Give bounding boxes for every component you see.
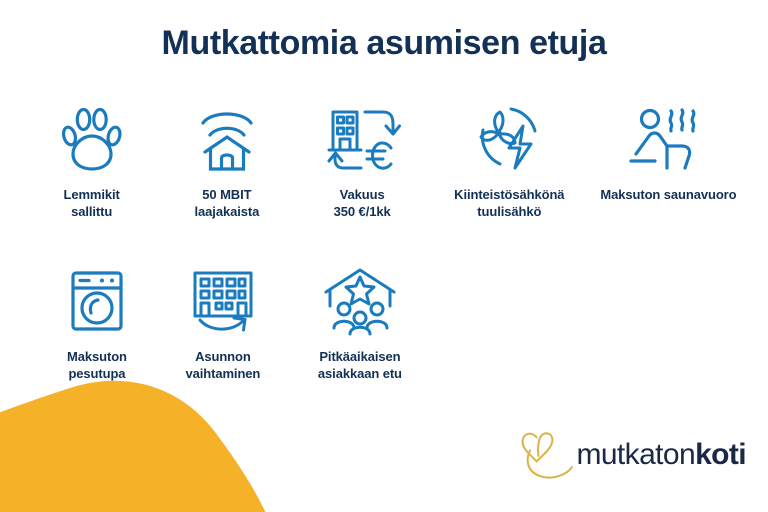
orange-blob-decoration: [0, 362, 280, 512]
benefit-item: Maksuton pesutupa: [34, 262, 160, 382]
benefit-label: 50 MBIT laajakaista: [195, 186, 260, 220]
brand-logo[interactable]: mutkatonkoti: [516, 428, 746, 482]
benefit-item: Pitkäaikaisen asiakkaan etu: [286, 262, 434, 382]
wifi-house-icon: [196, 100, 258, 178]
page-title: Mutkattomia asumisen etuja: [0, 22, 768, 64]
washing-machine-icon: [65, 262, 129, 340]
paw-print-icon: [61, 100, 123, 178]
benefit-label: Asunnon vaihtaminen: [186, 348, 261, 382]
benefits-row-1: Lemmikit sallittu 50 MBIT laajakaista: [24, 100, 748, 220]
benefit-label: Lemmikit sallittu: [63, 186, 119, 220]
benefit-item: Lemmikit sallittu: [24, 100, 159, 220]
brand-wordmark: mutkatonkoti: [576, 439, 746, 471]
brand-name-light: mutkaton: [576, 438, 695, 471]
infographic-canvas: Mutkattomia asumisen etuja Lemmikit sall…: [0, 0, 768, 512]
benefit-item: Kiinteistösähkönä tuulisähkö: [430, 100, 589, 220]
benefit-label: Vakuus 350 €/1kk: [334, 186, 391, 220]
apartment-swap-icon: [188, 262, 258, 340]
heart-swoosh-icon: [516, 428, 572, 482]
wind-turbine-bolt-icon: [473, 100, 545, 178]
benefit-item: Asunnon vaihtaminen: [160, 262, 286, 382]
building-euro-exchange-icon: [325, 100, 399, 178]
benefit-label: Maksuton pesutupa: [67, 348, 127, 382]
benefit-item: 50 MBIT laajakaista: [159, 100, 294, 220]
benefit-label: Maksuton saunavuoro: [600, 186, 736, 203]
benefits-row-2: Maksuton pesutupa: [34, 262, 434, 382]
brand-name-bold: koti: [695, 438, 746, 471]
sauna-person-steam-icon: [629, 100, 707, 178]
benefit-item: Maksuton saunavuoro: [589, 100, 748, 203]
benefit-label: Pitkäaikaisen asiakkaan etu: [318, 348, 402, 382]
benefit-item: Vakuus 350 €/1kk: [295, 100, 430, 220]
benefit-label: Kiinteistösähkönä tuulisähkö: [454, 186, 564, 220]
house-star-people-icon: [321, 262, 399, 340]
